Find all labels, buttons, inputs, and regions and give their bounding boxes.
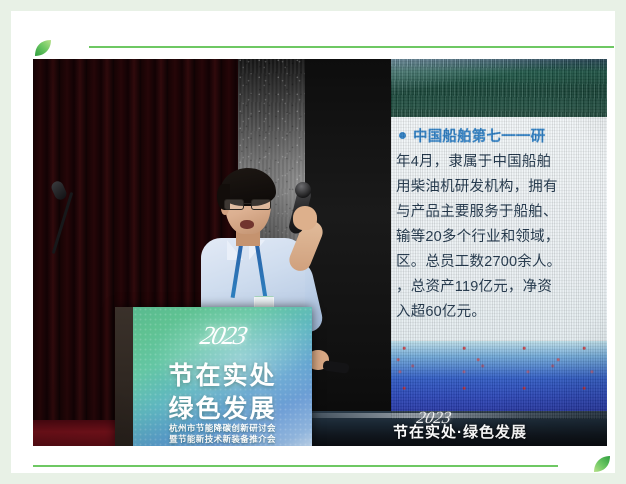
slide-header-image <box>391 59 607 117</box>
slide-footer-image <box>391 341 607 419</box>
page-root: 中国船舶第七一一研 年4月，隶属于中国船舶 用柴油机研发机构，拥有 与产品主要服… <box>0 0 626 484</box>
slide-text-body: 中国船舶第七一一研 年4月，隶属于中国船舶 用柴油机研发机构，拥有 与产品主要服… <box>391 117 607 341</box>
glasses-icon <box>224 199 273 210</box>
slide-line: 入超60亿元。 <box>396 300 607 325</box>
speaker-hand <box>293 206 317 230</box>
slide-line: 输等20多个行业和领域， <box>396 225 607 250</box>
slide-line: 与产品主要服务于船舶、 <box>396 200 607 225</box>
slide-line: 年4月，隶属于中国船舶 <box>396 150 607 175</box>
divider-top <box>89 46 614 48</box>
slide-line: 区。总员工数2700余人。 <box>396 250 607 275</box>
podium-banner: 2023 节在实处 绿色发展 杭州市节能降碳创新研讨会 暨节能新技术新装备推介会 <box>133 307 312 446</box>
slide-heading-text: 中国船舶第七一一研 <box>413 125 545 146</box>
floor-highlight <box>301 413 607 418</box>
content-card: 中国船舶第七一一研 年4月，隶属于中国船舶 用柴油机研发机构，拥有 与产品主要服… <box>11 11 615 473</box>
podium-subtitle-line-2: 暨节能新技术新装备推介会 <box>133 433 312 445</box>
stage-floor: 2023 节在实处·绿色发展 <box>301 411 607 446</box>
slide-footer-texture <box>391 341 607 419</box>
projection-screen: 中国船舶第七一一研 年4月，隶属于中国船舶 用柴油机研发机构，拥有 与产品主要服… <box>391 59 607 419</box>
stage-banner-text: 节在实处·绿色发展 <box>393 421 527 442</box>
glasses-lens-left <box>224 199 244 210</box>
podium-logo-mark: 2023 <box>197 321 248 351</box>
glasses-bridge <box>244 203 251 204</box>
glasses-lens-right <box>251 199 271 210</box>
speaker-mouth <box>240 220 254 229</box>
leaf-icon <box>592 454 612 474</box>
slide-line: ，总资产119亿元，净资 <box>396 275 607 300</box>
divider-bottom <box>33 465 558 467</box>
lectern: 2023 节在实处 绿色发展 杭州市节能降碳创新研讨会 暨节能新技术新装备推介会 <box>115 307 312 446</box>
podium-title-line-2: 绿色发展 <box>133 389 312 425</box>
slide-heading: 中国船舶第七一一研 <box>399 125 607 146</box>
slide-line: 用柴油机研发机构，拥有 <box>396 175 607 200</box>
bullet-icon <box>399 132 406 139</box>
leaf-icon <box>33 38 53 58</box>
conference-photo: 中国船舶第七一一研 年4月，隶属于中国船舶 用柴油机研发机构，拥有 与产品主要服… <box>33 59 607 446</box>
lectern-side-panel <box>115 307 133 446</box>
podium-title-line-1: 节在实处 <box>133 356 312 392</box>
